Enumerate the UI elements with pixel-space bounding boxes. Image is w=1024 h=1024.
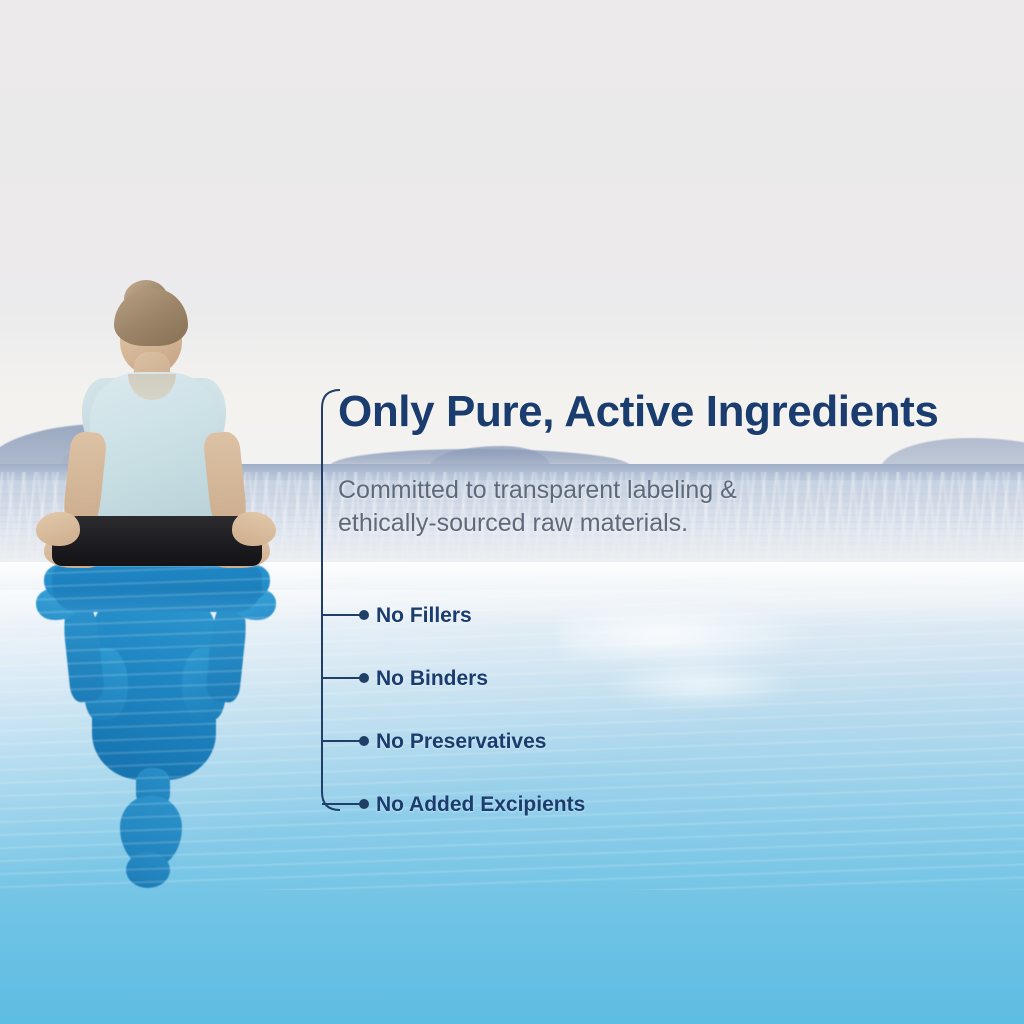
subtitle-text: Committed to transparent labeling & ethi… — [338, 474, 737, 540]
feature-bullet-no-binders: No Binders — [376, 667, 488, 691]
promo-banner: Only Pure, Active Ingredients Committed … — [0, 0, 1024, 1024]
bullet-dot-2 — [359, 736, 369, 746]
feature-bullet-no-added-excipients: No Added Excipients — [376, 793, 585, 817]
bullet-dot-3 — [359, 799, 369, 809]
bullet-dot-0 — [359, 610, 369, 620]
shorts — [52, 516, 262, 566]
page-title: Only Pure, Active Ingredients — [338, 387, 939, 437]
hand-left-mudra — [36, 512, 80, 546]
hand-right-mudra — [232, 512, 276, 546]
bracket-spine-path — [322, 390, 340, 810]
bracket-connector — [312, 380, 392, 820]
feature-bullet-no-fillers: No Fillers — [376, 604, 472, 628]
bullet-dot-1 — [359, 673, 369, 683]
feature-bullet-no-preservatives: No Preservatives — [376, 730, 546, 754]
